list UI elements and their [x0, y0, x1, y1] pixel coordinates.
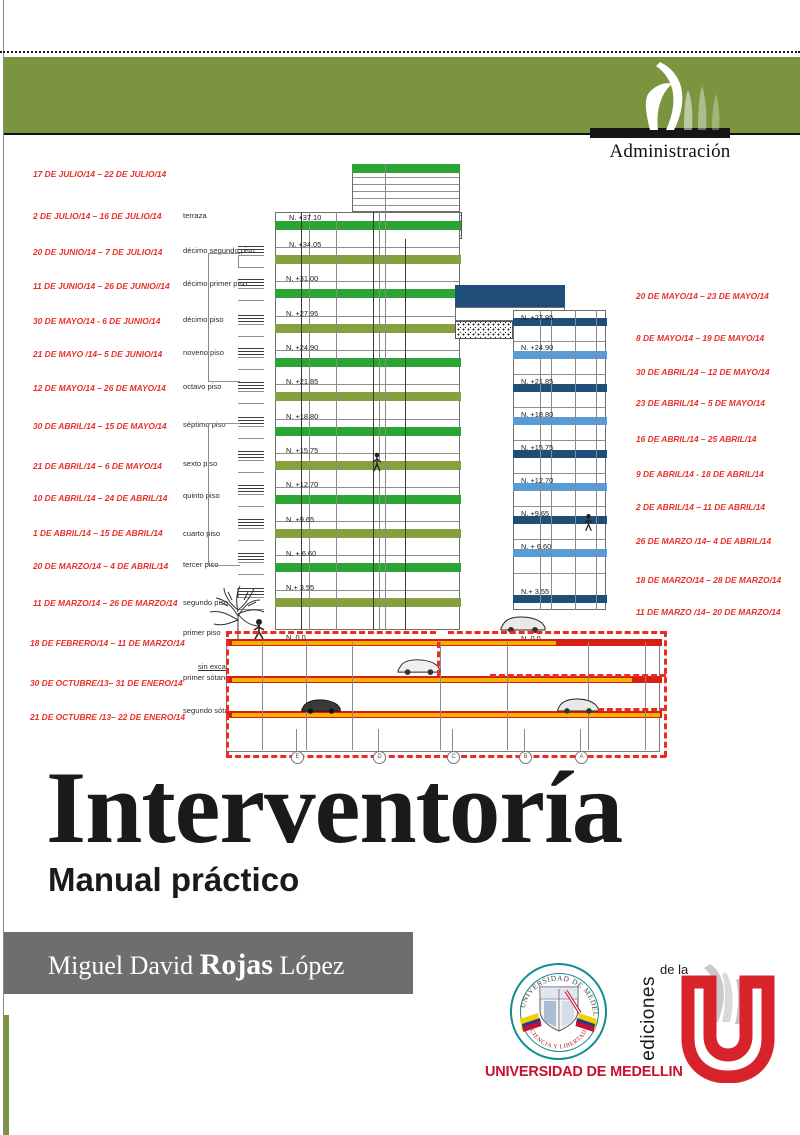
left-level-1: N. +34.05	[289, 240, 321, 249]
basement-slab-yellow-1	[232, 678, 632, 682]
u-mark-icon	[666, 958, 778, 1083]
red-dash-top-left	[226, 631, 436, 634]
left-date-9: 10 DE ABRIL/14 – 24 DE ABRIL/14	[33, 493, 167, 503]
left-date-3: 11 DE JUNIO/14 – 26 DE JUNIO//14	[33, 281, 170, 291]
author-suffix: López	[273, 951, 344, 980]
floor-label-9: cuarto piso	[183, 529, 220, 538]
left-level-4: N. +24.90	[286, 343, 318, 352]
pedestrian-icon	[250, 618, 268, 640]
slab-piso7	[275, 427, 461, 436]
right-date-3: 23 DE ABRIL/14 – 5 DE MAYO/14	[636, 398, 765, 408]
red-dash-top-right	[448, 631, 666, 634]
ediciones-u-logo-icon: ediciones de la	[638, 958, 778, 1083]
red-dash-inner-v	[437, 642, 440, 676]
top-dotted-trim-line	[0, 51, 800, 53]
seal-arc-text: UNIVERSIDAD DE MEDELLIN CIENCIA Y LIBERT…	[510, 963, 607, 1060]
floor-label-3: décimo piso	[183, 315, 224, 324]
university-name-label: UNIVERSIDAD DE MEDELLIN	[485, 1064, 635, 1080]
slab-piso8	[275, 392, 461, 401]
author-first: Miguel David	[48, 951, 200, 980]
left-date-1: 2 DE JULIO/14 – 16 DE JULIO/14	[33, 211, 161, 221]
left-date-12: 11 DE MARZO/14 – 26 DE MARZO/14	[33, 598, 178, 608]
left-level-8: N. +12.70	[286, 480, 318, 489]
left-level-6: N. +18.80	[286, 412, 318, 421]
left-level-0: N. +37.10	[289, 213, 321, 222]
floor-label-2: décimo primer piso	[183, 279, 247, 288]
building-section-diagram: 17 DE JULIO/14 – 22 DE JULIO/14 2 DE JUL…	[0, 155, 800, 755]
right-level-4: N. +15.75	[521, 443, 553, 452]
spine-green-strip	[4, 1015, 9, 1135]
left-date-11: 20 DE MARZO/14 – 4 DE ABRIL/14	[33, 561, 168, 571]
university-seal-icon: UNIVERSIDAD DE MEDELLIN CIENCIA Y LIBERT…	[485, 963, 635, 1083]
seal-motto-label: CIENCIA Y LIBERTAD	[528, 1028, 588, 1050]
leaf-swoosh-icon	[626, 60, 736, 132]
left-date-0: 17 DE JULIO/14 – 22 DE JULIO/14	[33, 169, 166, 179]
red-dash-inner-h2	[598, 708, 666, 711]
floor-label-6: séptimo piso	[183, 420, 226, 429]
author-last: Rojas	[200, 948, 273, 981]
slab-piso12	[275, 255, 461, 264]
slab-piso10	[275, 324, 461, 333]
right-date-0: 20 DE MAYO/14 – 23 DE MAYO/14	[636, 291, 769, 301]
right-tower-roof-band	[455, 285, 565, 307]
slab-terraza	[275, 221, 461, 230]
slab-piso9	[275, 358, 461, 367]
right-slab-1	[513, 351, 607, 359]
left-level-7: N. +15.75	[286, 446, 318, 455]
left-level-3: N. +27.95	[286, 309, 318, 318]
floor-label-4: noveno piso	[183, 348, 224, 357]
floor-label-0: terraza	[183, 211, 207, 220]
right-date-7: 26 DE MARZO /14– 4 DE ABRIL/14	[636, 536, 771, 546]
left-level-10: N. + 6.60	[286, 549, 316, 558]
right-level-2: N. +21.85	[521, 377, 553, 386]
floor-label-7: sexto piso	[183, 459, 217, 468]
red-dash-left	[226, 631, 229, 757]
right-level-5: N. +12.70	[521, 476, 553, 485]
left-date-13: 18 DE FEBRERO/14 – 11 DE MARZO/14	[30, 638, 185, 648]
right-level-3: N. +18.80	[521, 410, 553, 419]
car-icon-2	[300, 696, 342, 714]
left-date-4: 30 DE MAYO/14 - 6 DE JUNIO/14	[33, 316, 160, 326]
right-level-0: N. +27.95	[521, 313, 553, 322]
slab-piso4	[275, 529, 461, 538]
left-level-11: N.+ 3.55	[286, 583, 314, 592]
right-date-5: 9 DE ABRIL/14 - 18 DE ABRIL/14	[636, 469, 764, 479]
floor-label-5: octavo piso	[183, 382, 221, 391]
left-date-7: 30 DE ABRIL/14 – 15 DE MAYO/14	[33, 421, 167, 431]
car-icon-3	[556, 695, 600, 714]
author-bar: Miguel David Rojas López	[4, 932, 413, 994]
left-level-9: N. +9.65	[286, 515, 314, 524]
slab-piso2	[275, 598, 461, 607]
slab-piso5	[275, 495, 461, 504]
left-date-5: 21 DE MAYO /14– 5 DE JUNIO/14	[33, 349, 162, 359]
earth-hatch-right	[455, 321, 513, 339]
left-date-6: 12 DE MAYO/14 – 26 DE MAYO/14	[33, 383, 166, 393]
pedestrian-upper-icon	[371, 452, 383, 472]
left-date-14: 30 DE OCTUBRE/13– 31 DE ENERO/14	[30, 678, 183, 688]
right-level-1: N. +24.90	[521, 343, 553, 352]
car-icon-1	[396, 656, 442, 675]
left-date-8: 21 DE ABRIL/14 – 6 DE MAYO/14	[33, 461, 162, 471]
right-level-7: N. + 6.60	[521, 542, 551, 551]
right-date-2: 30 DE ABRIL/14 – 12 DE MAYO/14	[636, 367, 770, 377]
floor-label-13: primer sótano	[183, 673, 229, 682]
left-date-15: 21 DE OCTUBRE /13– 22 DE ENERO/14	[30, 712, 185, 722]
right-date-6: 2 DE ABRIL/14 – 11 DE ABRIL/14	[636, 502, 765, 512]
right-level-6: N. +9.65	[521, 509, 549, 518]
svg-text:CIENCIA Y LIBERTAD: CIENCIA Y LIBERTAD	[528, 1028, 588, 1050]
author-name: Miguel David Rojas López	[48, 948, 344, 982]
slab-piso3	[275, 563, 461, 572]
left-level-2: N. +31.00	[286, 274, 318, 283]
right-date-4: 16 DE ABRIL/14 – 25 ABRIL/14	[636, 434, 756, 444]
right-date-8: 18 DE MARZO/14 – 28 DE MARZO/14	[636, 575, 781, 585]
right-date-1: 8 DE MAYO/14 – 19 DE MAYO/14	[636, 333, 764, 343]
red-dash-right	[664, 631, 667, 757]
page-title: Interventoría	[46, 757, 622, 860]
red-dash-inner-h	[490, 674, 666, 677]
left-date-10: 1 DE ABRIL/14 – 15 DE ABRIL/14	[33, 528, 163, 538]
roof-slab	[352, 164, 460, 173]
right-level-8: N.+ 3.55	[521, 587, 549, 596]
right-date-9: 11 DE MARZO /14– 20 DE MARZO/14	[636, 607, 781, 617]
floor-label-8: quinto piso	[183, 491, 220, 500]
left-date-2: 20 DE JUNIO/14 – 7 DE JULIO/14	[33, 247, 162, 257]
pedestrian-right-icon	[583, 513, 594, 532]
left-level-5: N. +21.85	[286, 377, 318, 386]
car-icon-0	[499, 613, 547, 633]
page-subtitle: Manual práctico	[48, 861, 299, 899]
slab-piso11	[275, 289, 461, 298]
ediciones-word-label: ediciones	[638, 976, 660, 1061]
right-slab-8	[513, 595, 607, 603]
slab-piso6	[275, 461, 461, 470]
